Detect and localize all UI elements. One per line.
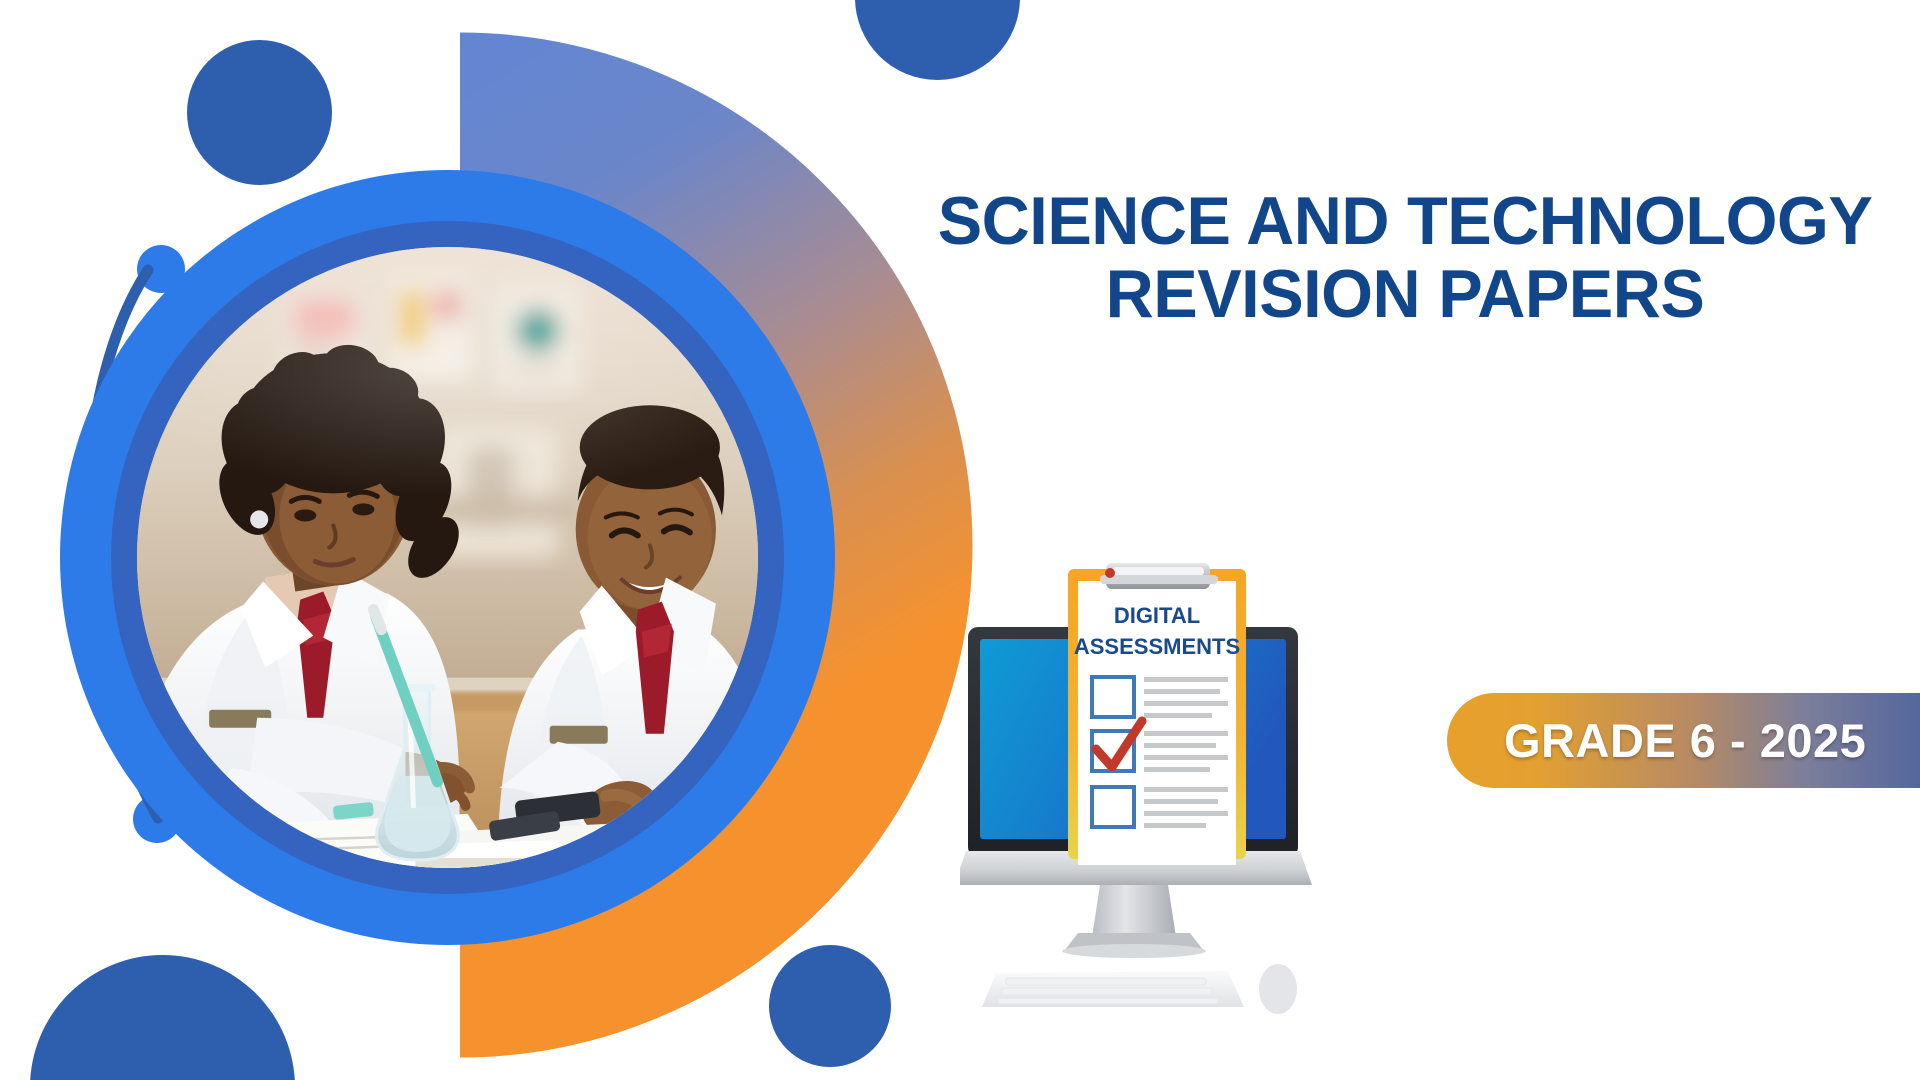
desktop-computer-illustration: DIGITAL ASSESSMENTS <box>960 555 1390 1025</box>
photo-frame-outer-ring <box>60 170 835 945</box>
title-line-1: SCIENCE AND TECHNOLOGY <box>915 185 1895 258</box>
title-line-2: REVISION PAPERS <box>915 258 1895 331</box>
photo-frame-inner-ring <box>111 221 784 894</box>
mouse-icon <box>1259 964 1297 1014</box>
grade-badge-label: GRADE 6 - 2025 <box>1504 713 1866 768</box>
clipboard-title-line1: DIGITAL <box>1114 603 1200 628</box>
decor-dot-bottom-left <box>30 955 295 1080</box>
students-science-photo <box>137 247 758 868</box>
grade-badge: GRADE 6 - 2025 <box>1447 693 1920 788</box>
clipboard-title-line2: ASSESSMENTS <box>1074 634 1240 659</box>
poster-canvas: SCIENCE AND TECHNOLOGY REVISION PAPERS <box>0 0 1920 1080</box>
clipboard: DIGITAL ASSESSMENTS <box>1068 563 1246 865</box>
page-title: SCIENCE AND TECHNOLOGY REVISION PAPERS <box>905 185 1905 332</box>
keyboard-icon <box>982 971 1244 1007</box>
